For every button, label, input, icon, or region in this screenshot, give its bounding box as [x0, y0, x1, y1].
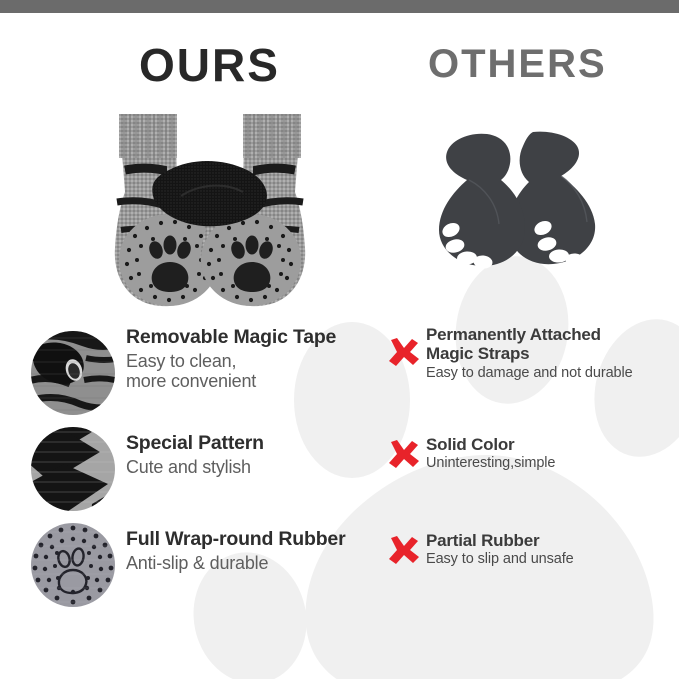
feature-others: Solid Color Uninteresting,simple	[386, 421, 679, 517]
feature-sub-others: Easy to slip and unsafe	[426, 551, 676, 568]
feature-sub-ours-line2: more convenient	[126, 371, 406, 391]
red-cross-icon	[386, 439, 420, 469]
feature-ours: Full Wrap-round Rubber Anti-slip & durab…	[30, 517, 400, 613]
top-bar	[0, 0, 679, 13]
product-image-others	[425, 128, 615, 273]
page-title-others: OTHERS	[428, 42, 607, 87]
feature-title-others-line1: Partial Rubber	[426, 531, 676, 550]
red-cross-icon	[386, 535, 420, 565]
zebra-stripe-pattern-icon	[30, 426, 116, 512]
feature-title-ours: Removable Magic Tape	[126, 327, 406, 349]
feature-ours: Special Pattern Cute and stylish	[30, 421, 400, 517]
product-image-ours	[95, 100, 325, 315]
feature-sub-others: Easy to damage and not durable	[426, 365, 676, 382]
comparison-infographic: OURS OTHERS	[0, 0, 679, 679]
feature-title-ours: Special Pattern	[126, 433, 406, 455]
feature-title-others-line1: Solid Color	[426, 435, 676, 454]
feature-others: Permanently Attached Magic Straps Easy t…	[386, 325, 679, 421]
feature-sub-ours-line1: Easy to clean,	[126, 351, 406, 371]
feature-text-ours: Special Pattern Cute and stylish	[126, 433, 406, 477]
feature-text-ours: Full Wrap-round Rubber Anti-slip & durab…	[126, 529, 406, 573]
feature-sub-others: Uninteresting,simple	[426, 455, 676, 472]
rubber-paw-grip-sole-icon	[30, 522, 116, 608]
feature-sub-ours-line1: Anti-slip & durable	[126, 553, 406, 573]
feature-others: Partial Rubber Easy to slip and unsafe	[386, 517, 679, 613]
velcro-tape-closeup-icon	[30, 330, 116, 416]
feature-title-ours: Full Wrap-round Rubber	[126, 529, 406, 551]
feature-row: Removable Magic Tape Easy to clean, more…	[0, 325, 679, 421]
feature-title-others-line2: Magic Straps	[426, 344, 676, 363]
feature-row: Full Wrap-round Rubber Anti-slip & durab…	[0, 517, 679, 613]
feature-text-others: Permanently Attached Magic Straps Easy t…	[426, 325, 676, 381]
feature-text-ours: Removable Magic Tape Easy to clean, more…	[126, 327, 406, 391]
red-cross-icon	[386, 337, 420, 367]
feature-title-others-line1: Permanently Attached	[426, 325, 676, 344]
feature-row: Special Pattern Cute and stylish Solid C…	[0, 421, 679, 517]
page-title-ours: OURS	[139, 38, 280, 92]
feature-list: Removable Magic Tape Easy to clean, more…	[0, 325, 679, 613]
feature-sub-ours-line1: Cute and stylish	[126, 457, 406, 477]
feature-text-others: Partial Rubber Easy to slip and unsafe	[426, 531, 676, 568]
feature-ours: Removable Magic Tape Easy to clean, more…	[30, 325, 400, 421]
feature-text-others: Solid Color Uninteresting,simple	[426, 435, 676, 472]
